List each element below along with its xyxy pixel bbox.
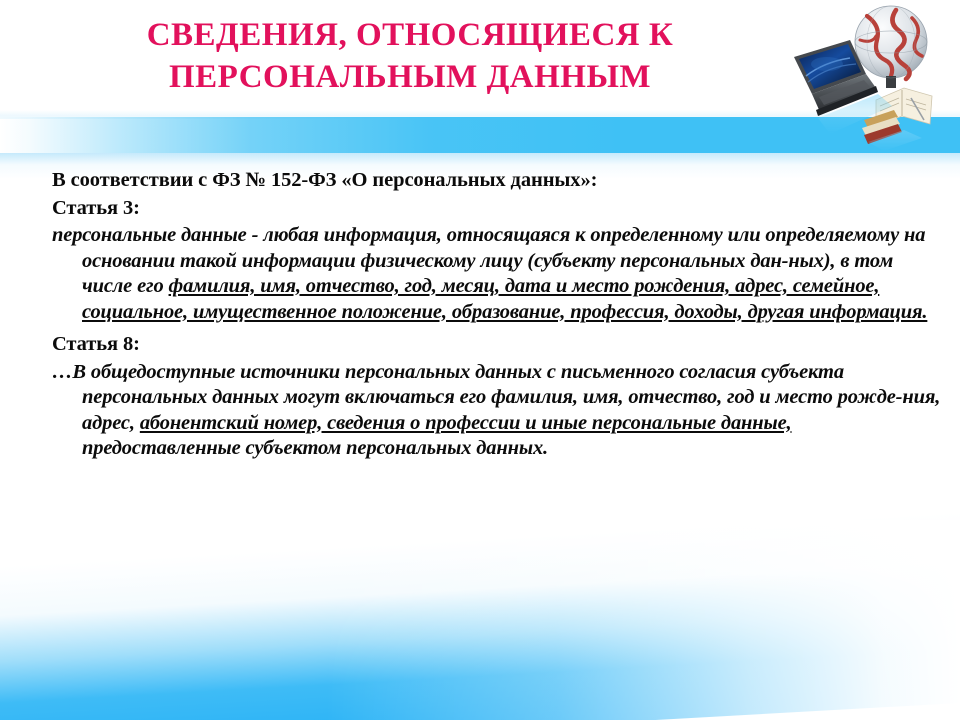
article-3-heading: Статья 3:	[52, 196, 942, 222]
article-3-paragraph: персональные данные - любая информация, …	[52, 223, 942, 325]
article-8-paragraph: …В общедоступные источники персональных …	[52, 360, 942, 462]
title-line-1: СВЕДЕНИЯ, ОТНОСЯЩИЕСЯ К	[40, 14, 780, 56]
article-8-text-plain-2: предоставленные субъектом персональных д…	[82, 437, 548, 459]
slide-body: В соответствии с ФЗ № 152-ФЗ «О персонал…	[52, 168, 942, 464]
slide-root: СВЕДЕНИЯ, ОТНОСЯЩИЕСЯ К ПЕРСОНАЛЬНЫМ ДАН…	[0, 0, 960, 720]
bottom-band-fade	[0, 520, 960, 720]
title-line-2: ПЕРСОНАЛЬНЫМ ДАННЫМ	[40, 56, 780, 98]
article-8-heading: Статья 8:	[52, 332, 942, 358]
header-illustration	[772, 2, 960, 152]
article-8-text-underlined: абонентский номер, сведения о профессии …	[140, 412, 792, 434]
article-3-text-underlined: фамилия, имя, отчество, год, месяц, дата…	[82, 275, 927, 323]
page-title: СВЕДЕНИЯ, ОТНОСЯЩИЕСЯ К ПЕРСОНАЛЬНЫМ ДАН…	[40, 14, 780, 98]
intro-line: В соответствии с ФЗ № 152-ФЗ «О персонал…	[52, 168, 942, 194]
